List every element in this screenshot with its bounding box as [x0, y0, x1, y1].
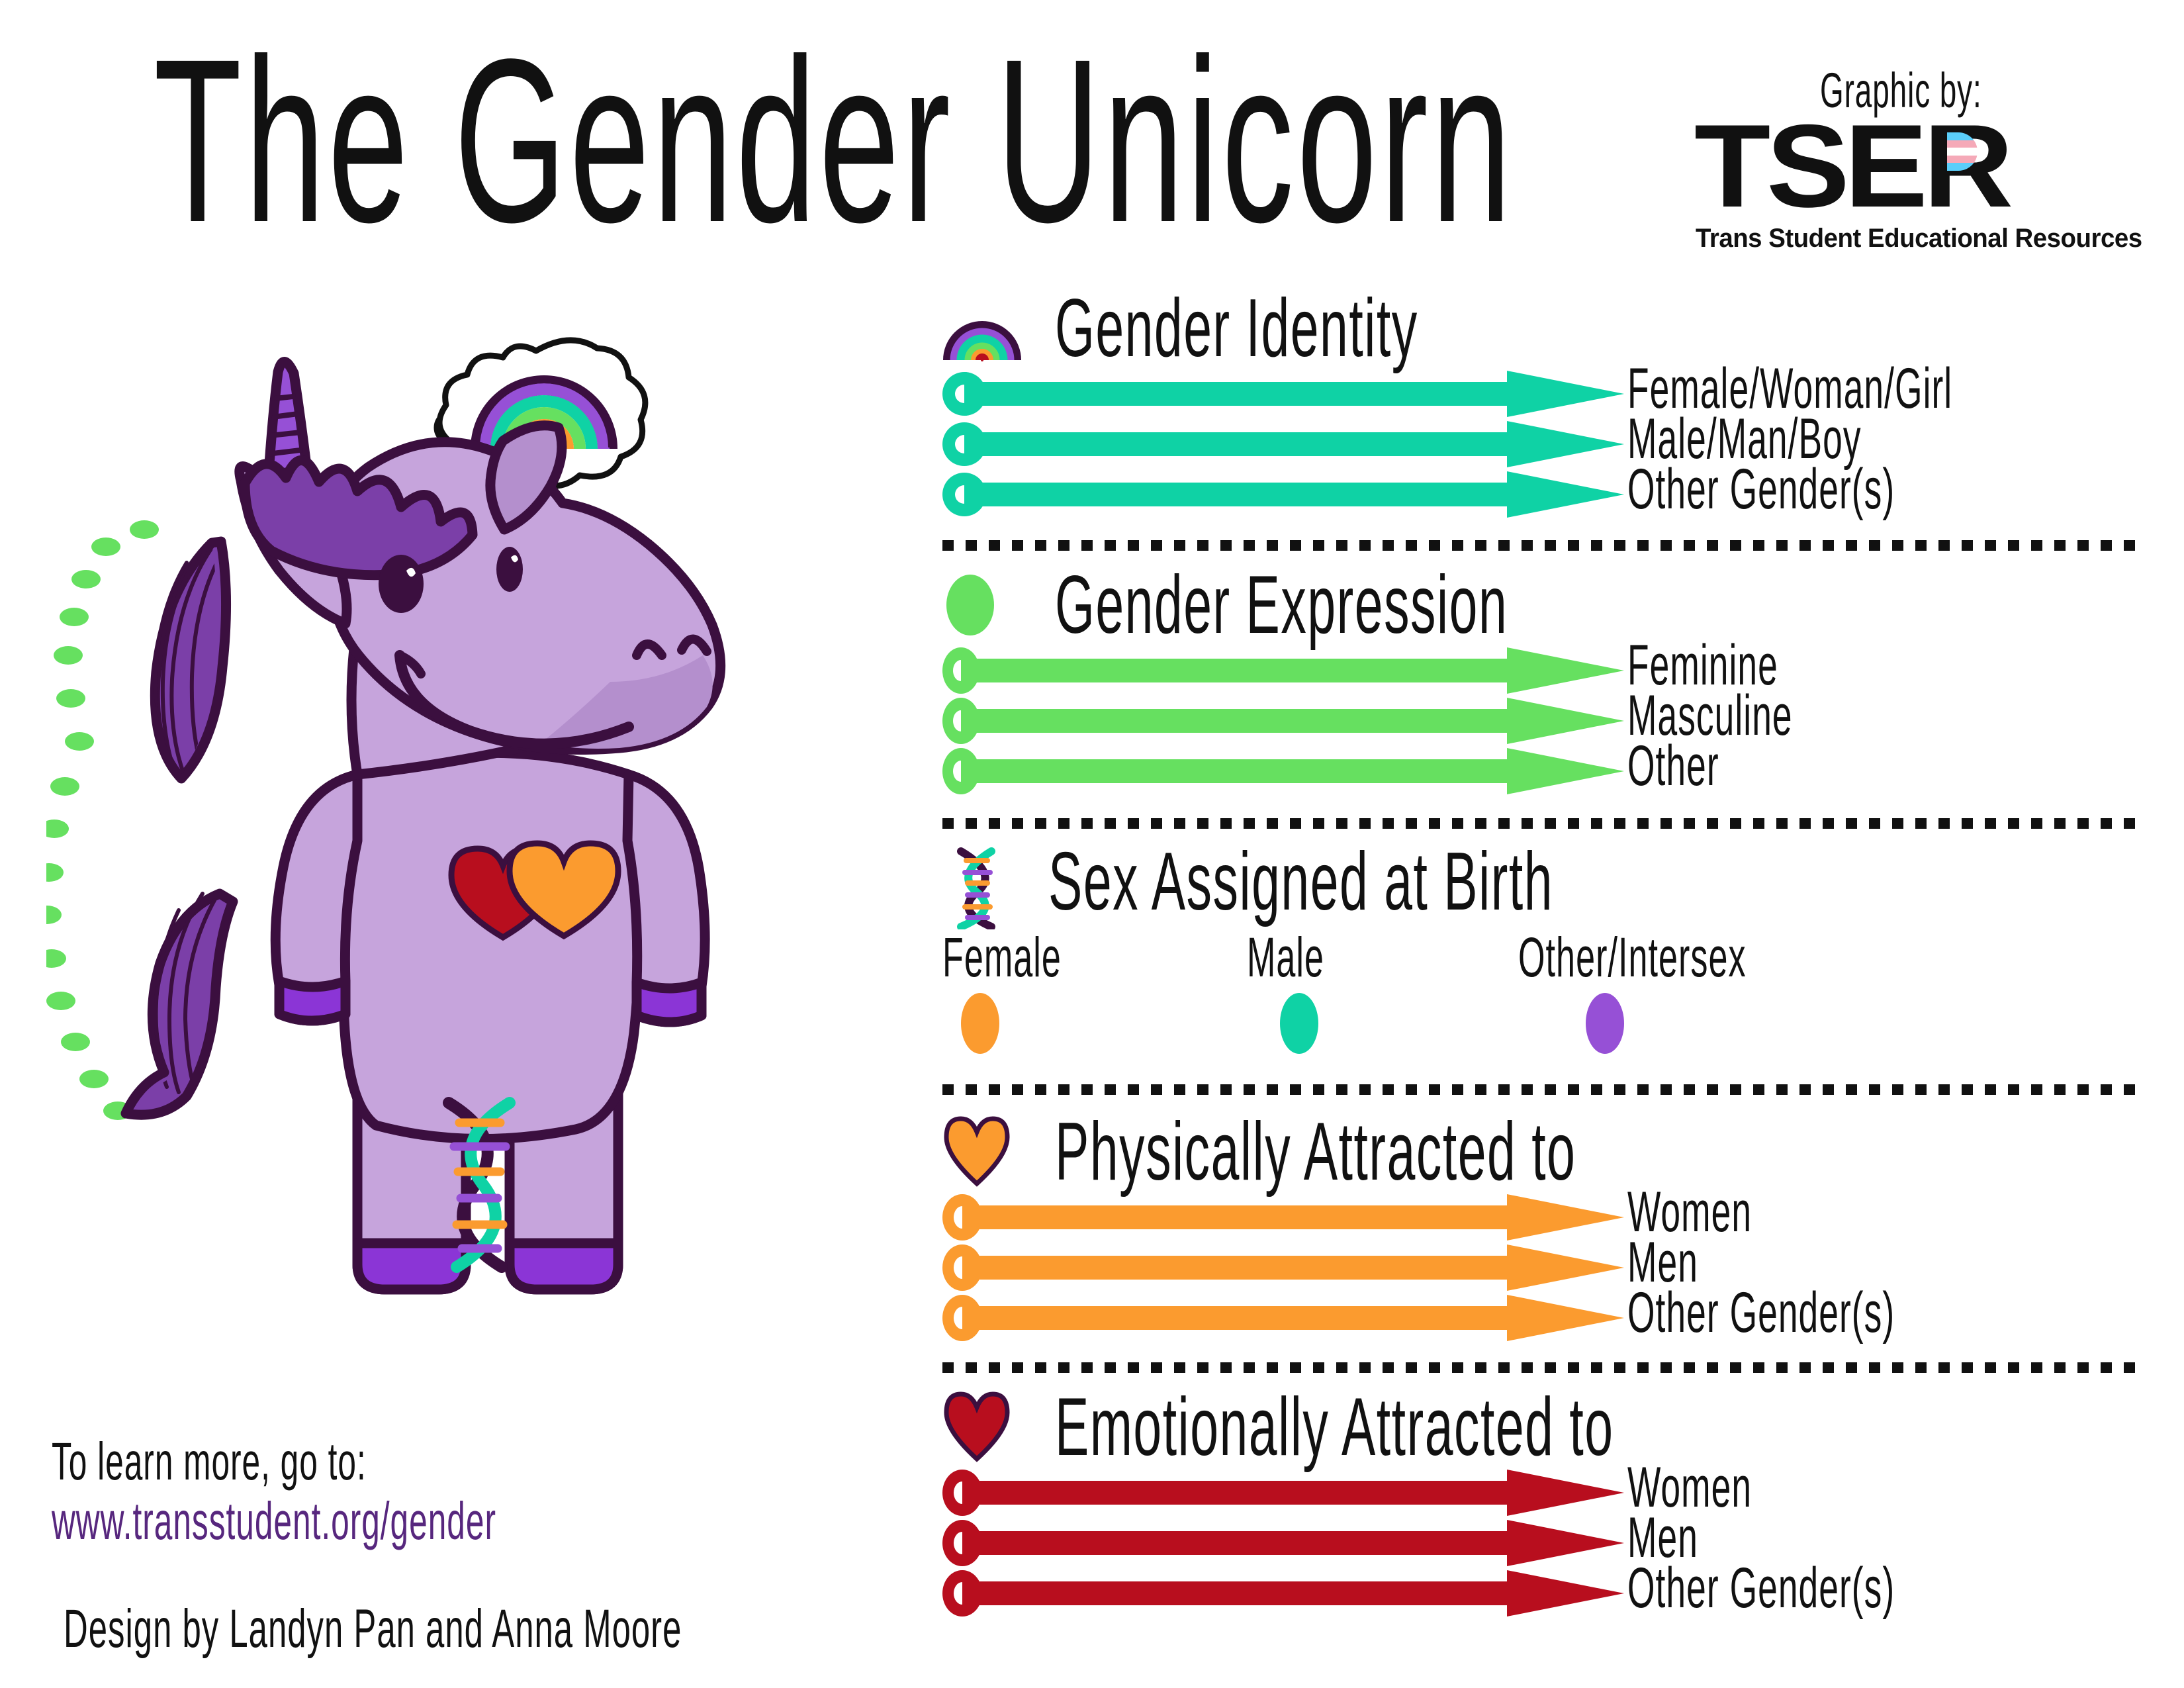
spectrum-arrow: [942, 421, 1624, 467]
spectrum-row[interactable]: Masculine: [942, 698, 2140, 748]
design-credit: Design by Landyn Pan and Anna Moore: [64, 1602, 682, 1656]
spectrum-arrow: [942, 647, 1624, 694]
spectrum-row[interactable]: Other: [942, 748, 2140, 798]
section-header: Sex Assigned at Birth: [942, 845, 2140, 929]
section-physically-attracted-to: Physically Attracted to Women: [942, 1115, 2140, 1345]
spectrum-arrow: [942, 1570, 1624, 1617]
spectrum-row[interactable]: Female/Woman/Girl: [942, 371, 2140, 421]
spectrum-arrow: [942, 371, 1624, 417]
green-circle-icon: [942, 568, 1022, 645]
spectrum-arrow: [942, 1520, 1624, 1566]
unicorn-right-eye: [496, 547, 523, 592]
spectrum-label: Other Gender(s): [1627, 1560, 1895, 1617]
sab-dot-row: [942, 993, 2140, 1067]
sab-dot-intersex[interactable]: [1586, 993, 1624, 1054]
section-sex-assigned-at-birth: Sex Assigned at Birth Female Male Other/…: [942, 845, 2140, 1067]
tser-letter-r-wrap: R: [1923, 107, 2009, 225]
tser-letter-s: S: [1766, 107, 1850, 225]
unicorn-torso: [343, 753, 640, 1139]
website-link[interactable]: www.transstudent.org/gender: [52, 1495, 496, 1548]
spectrum-rows: Feminine Masculine: [942, 647, 2140, 798]
spectrum-arrow: [942, 748, 1624, 794]
orange-heart-icon: [942, 1115, 1011, 1188]
sab-label-intersex: Other/Intersex: [1518, 929, 1747, 985]
sab-label-row: Female Male Other/Intersex: [942, 929, 2140, 993]
spectrum-row[interactable]: Men: [942, 1520, 2140, 1570]
section-title: Physically Attracted to: [1055, 1111, 1576, 1193]
section-emotionally-attracted-to: Emotionally Attracted to Women: [942, 1390, 2140, 1620]
spectrum-row[interactable]: Women: [942, 1194, 2140, 1244]
section-title: Gender Expression: [1055, 564, 1508, 646]
unicorn-left-arm-cuff: [279, 981, 345, 1021]
spectrum-row[interactable]: Other Gender(s): [942, 1295, 2140, 1345]
sab-label-female: Female: [942, 929, 1062, 985]
section-header: Emotionally Attracted to: [942, 1390, 2140, 1470]
tser-full-name: Trans Student Educational Resources: [1696, 224, 2142, 254]
spectrum-arrow: [942, 1194, 1624, 1241]
unicorn-left-eye: [379, 555, 424, 613]
spectrum-row[interactable]: Male/Man/Boy: [942, 421, 2140, 471]
unicorn-tail: [126, 894, 233, 1115]
section-header: Gender Expression: [942, 568, 2140, 647]
spectrum-row[interactable]: Men: [942, 1244, 2140, 1295]
spectrum-arrow: [942, 1295, 1624, 1341]
green-dotted-arc: [46, 520, 159, 1120]
spectrum-rows: Women Men: [942, 1470, 2140, 1620]
red-heart-icon: [942, 1390, 1011, 1463]
section-divider: [942, 818, 2142, 829]
spectrum-arrow: [942, 1470, 1624, 1516]
spectrum-rows: Female/Woman/Girl Male/Man/Boy: [942, 371, 2140, 522]
learn-more-label: To learn more, go to:: [52, 1435, 367, 1488]
sab-dot-male[interactable]: [1280, 993, 1318, 1054]
spectrum-row[interactable]: Women: [942, 1470, 2140, 1520]
spectrum-arrow: [942, 1244, 1624, 1291]
unicorn-right-arm-cuff: [637, 982, 702, 1022]
tser-credit-block: Graphic by: TSER Trans Student Education…: [1694, 66, 2158, 265]
section-divider: [942, 540, 2142, 551]
spectrum-label: Other Gender(s): [1627, 461, 1895, 518]
tser-letter-t: T: [1694, 107, 1770, 225]
sab-dot-female[interactable]: [961, 993, 999, 1054]
spectrum-arrow: [942, 471, 1624, 518]
unicorn-body: [126, 361, 721, 1289]
section-title: Gender Identity: [1055, 287, 1418, 369]
section-header: Gender Identity: [942, 291, 2140, 371]
sab-label-male: Male: [1247, 929, 1324, 985]
section-header: Physically Attracted to: [942, 1115, 2140, 1194]
section-title: Sex Assigned at Birth: [1048, 841, 1553, 923]
section-divider: [942, 1362, 2142, 1373]
section-title: Emotionally Attracted to: [1055, 1386, 1614, 1468]
spectrum-row[interactable]: Feminine: [942, 647, 2140, 698]
unicorn-illustration: [46, 311, 847, 1390]
section-gender-expression: Gender Expression Feminine: [942, 568, 2140, 798]
unicorn-left-cuff: [357, 1243, 466, 1289]
spectrum-rows: Women Men: [942, 1194, 2140, 1345]
spectrum-row[interactable]: Other Gender(s): [942, 471, 2140, 522]
rainbow-icon: [942, 291, 1022, 368]
spectrum-arrow: [942, 698, 1624, 744]
unicorn-right-cuff: [510, 1243, 618, 1289]
spectrum-label: Other: [1627, 737, 1719, 794]
spectrum-row[interactable]: Other Gender(s): [942, 1570, 2140, 1620]
tser-wordmark: TSER: [1694, 107, 2009, 225]
section-gender-identity: Gender Identity Female/Woman/Girl: [942, 291, 2140, 522]
infographic-canvas: The Gender Unicorn Graphic by: TSER Tran…: [0, 0, 2184, 1688]
spectrum-panel: Gender Identity Female/Woman/Girl: [942, 291, 2140, 1620]
tser-letter-e: E: [1844, 107, 1928, 225]
spectrum-label: Other Gender(s): [1627, 1284, 1895, 1341]
section-divider: [942, 1084, 2142, 1095]
page-title: The Gender Unicorn: [154, 24, 1514, 257]
dna-icon: [948, 845, 1011, 929]
